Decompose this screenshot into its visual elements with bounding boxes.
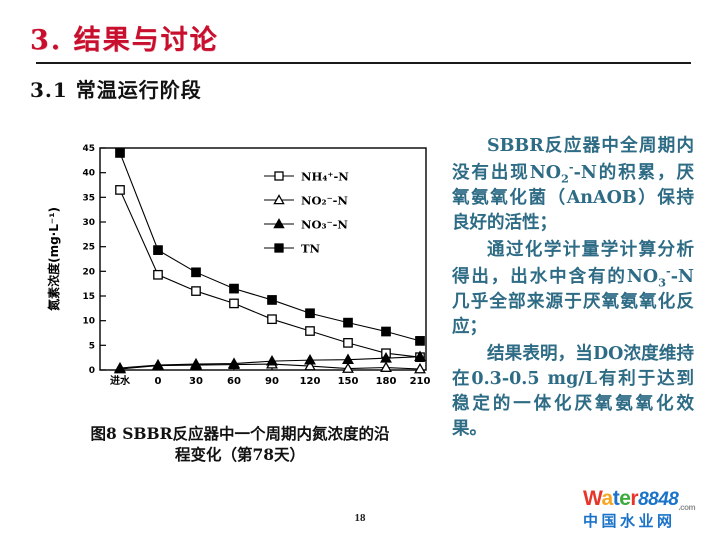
logo-chinese-name: 中国水业网 [583, 514, 713, 529]
data-point [306, 309, 314, 317]
header-divider [36, 62, 691, 64]
y-tick-25: 25 [82, 243, 95, 253]
legend-label: TN [301, 242, 321, 256]
section-subtitle: 3.1 常温运行阶段 [30, 74, 202, 103]
data-point [154, 246, 162, 254]
y-tick-20: 20 [82, 267, 95, 277]
figure-caption-line2: 程变化（第78天） [30, 445, 450, 466]
y-tick-10: 10 [82, 317, 95, 327]
x-tick-60: 60 [227, 376, 241, 387]
data-point [416, 337, 424, 345]
logo-letter-e: e [619, 487, 630, 510]
x-tick-180: 180 [376, 376, 397, 387]
data-point [192, 287, 200, 295]
data-point [268, 315, 276, 323]
y-tick-0: 0 [89, 366, 95, 376]
slide: 3. 结果与讨论 3.1 常温运行阶段 0 [0, 0, 720, 540]
data-point [306, 327, 314, 335]
y-tick-45: 45 [82, 144, 95, 154]
data-point [116, 186, 124, 194]
y-tick-35: 35 [82, 193, 95, 203]
legend-marker [275, 244, 283, 252]
logo-domain: .com [678, 503, 695, 512]
discussion-paragraph-1: SBBR反应器中全周期内没有出现NO2--N的积累，厌氧氨氧化菌（AnAOB）保… [452, 134, 694, 236]
no2-superscript: - [569, 160, 574, 174]
y-tick-5: 5 [89, 341, 95, 351]
logo-letter-w: W [583, 487, 602, 510]
x-tick-210: 210 [410, 376, 431, 387]
y-axis-label: 氮素浓度(mg·L⁻¹) [46, 207, 61, 311]
data-point [344, 318, 352, 326]
y-tick-40: 40 [82, 169, 95, 179]
figure-caption: 图8 SBBR反应器中一个周期内氮浓度的沿 程变化（第78天） [30, 424, 450, 466]
x-tick-0: 0 [155, 376, 162, 387]
logo-number: 8848 [638, 489, 678, 510]
legend-label: NH₄⁺-N [301, 170, 349, 184]
discussion-paragraph-2: 通过化学计量学计算分析得出，出水中含有的NO3--N几乎全部来源于厌氧氨氧化反应… [452, 238, 694, 340]
x-tick-120: 120 [300, 376, 321, 387]
discussion-paragraph-3: 结果表明，当DO浓度维持在0.3-0.5 mg/L有利于达到稳定的一体化厌氧氨氧… [452, 342, 694, 441]
data-point [154, 271, 162, 279]
legend-label: NO₃⁻-N [301, 218, 348, 232]
data-point [382, 327, 390, 335]
page-title: 3. 结果与讨论 [30, 18, 219, 57]
water8848-logo: Water8848.com 中国水业网 [583, 488, 713, 529]
data-point [230, 299, 238, 307]
data-point [192, 268, 200, 276]
y-tick-15: 15 [82, 292, 95, 302]
logo-wordmark: Water8848.com [583, 488, 713, 512]
data-point [344, 339, 352, 347]
chart-svg: 0 5 10 15 20 25 30 35 40 45 氮素浓度(mg·L⁻¹) [36, 132, 446, 392]
figure-caption-line1: 图8 SBBR反应器中一个周期内氮浓度的沿 [30, 424, 450, 445]
discussion-text-panel: SBBR反应器中全周期内没有出现NO2--N的积累，厌氧氨氧化菌（AnAOB）保… [452, 134, 694, 443]
y-tick-30: 30 [82, 218, 95, 228]
data-point [268, 296, 276, 304]
x-tick-90: 90 [265, 376, 279, 387]
no3-superscript: - [666, 264, 671, 278]
x-tick-influent: 进水 [110, 374, 131, 387]
nitrogen-concentration-chart: 0 5 10 15 20 25 30 35 40 45 氮素浓度(mg·L⁻¹) [36, 132, 446, 392]
data-point [116, 149, 124, 157]
data-point [230, 284, 238, 292]
no3-subscript: 3 [658, 275, 666, 289]
x-tick-150: 150 [338, 376, 359, 387]
logo-letter-a: a [602, 487, 613, 510]
legend-label: NO₂⁻-N [301, 194, 348, 208]
no2-subscript: 2 [561, 171, 569, 185]
plot-frame [100, 148, 426, 370]
logo-letter-r: r [630, 487, 638, 510]
x-tick-30: 30 [189, 376, 203, 387]
legend-marker [275, 172, 283, 180]
